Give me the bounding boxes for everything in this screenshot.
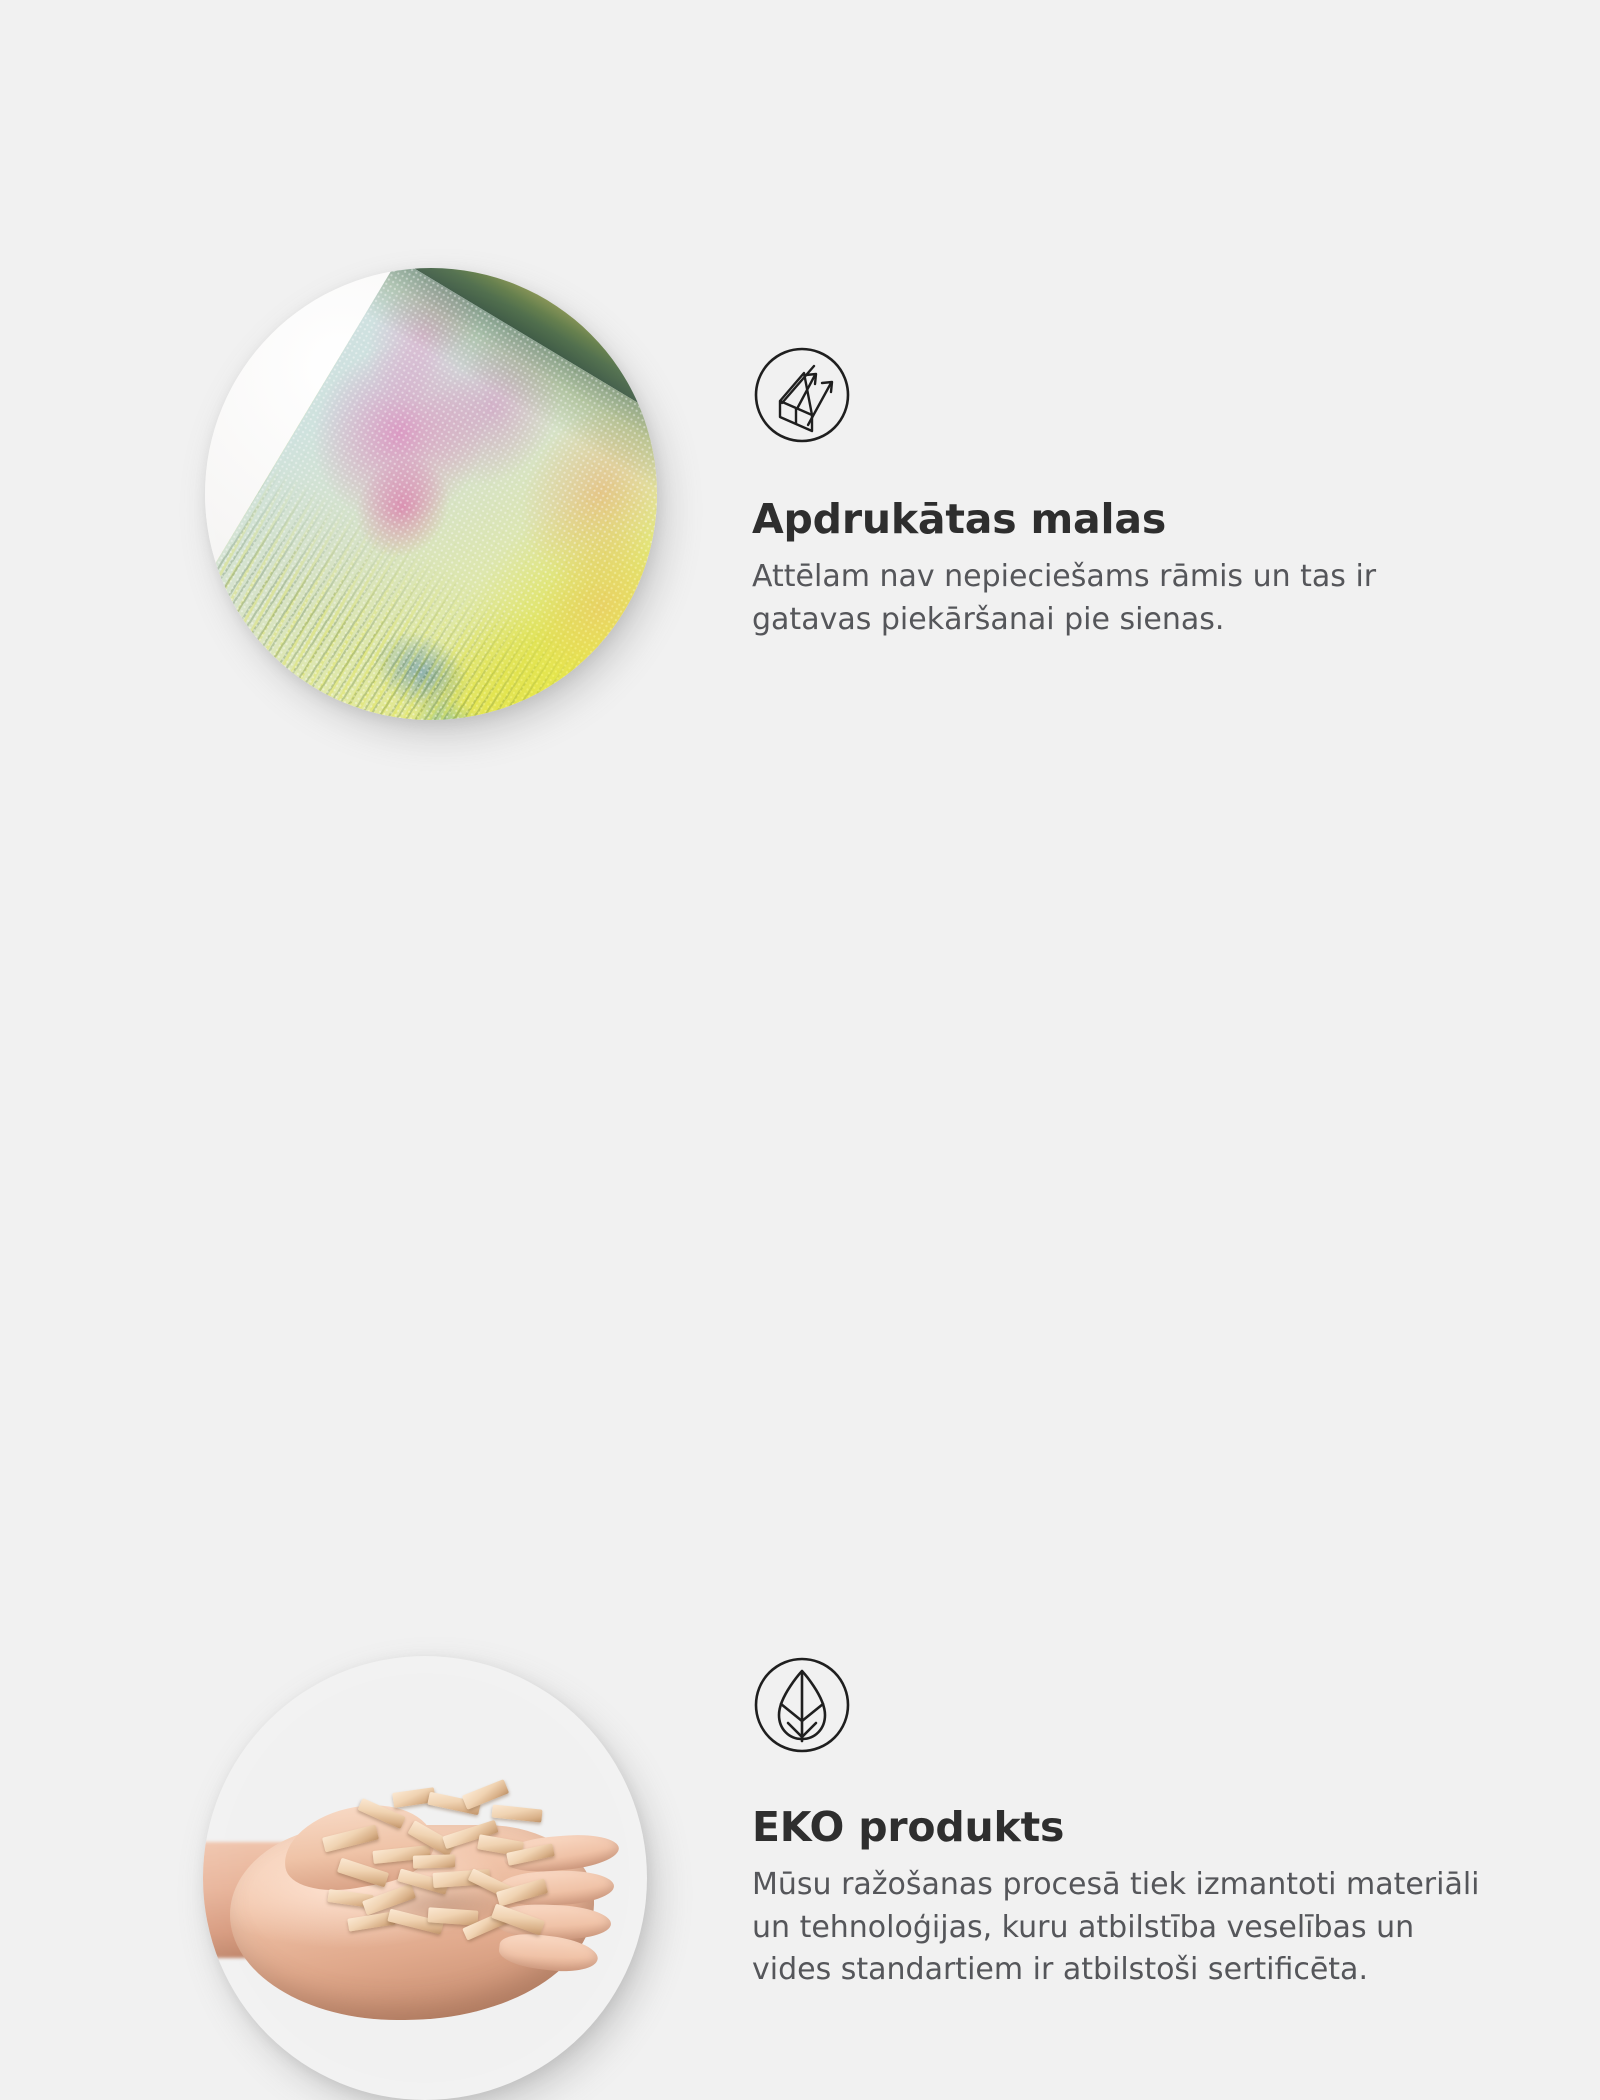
wood-chip-pile [318, 1780, 567, 1949]
wood-chip [413, 1854, 456, 1869]
feature-title: Apdrukātas malas [752, 445, 1492, 542]
feature-description: Mūsu ražošanas procesā tiek izmantoti ma… [752, 1850, 1492, 1992]
circular-photo-wood-chips [203, 1656, 647, 2100]
feature-description: Attēlam nav nepieciešams rāmis un tas ir… [752, 542, 1472, 641]
feature-image-eko-product [203, 1656, 647, 2100]
feature-block-printed-edges: Apdrukātas malas Attēlam nav nepieciešam… [0, 0, 1600, 800]
printed-edges-icon [752, 345, 852, 445]
leaf-icon [752, 1655, 852, 1755]
feature-text-printed-edges: Apdrukātas malas Attēlam nav nepieciešam… [752, 345, 1492, 641]
wood-chip [427, 1907, 478, 1926]
circular-photo-canvas-edge [205, 268, 657, 720]
feature-image-printed-edges [205, 268, 657, 720]
feature-text-eko-product: EKO produkts Mūsu ražošanas procesā tiek… [752, 1655, 1512, 1992]
feature-block-eko-product: EKO produkts Mūsu ražošanas procesā tiek… [0, 800, 1600, 1600]
wood-chip [322, 1825, 379, 1853]
wood-chip [492, 1805, 543, 1824]
feature-list-page: Apdrukātas malas Attēlam nav nepieciešam… [0, 0, 1600, 1600]
feature-title: EKO produkts [752, 1755, 1512, 1850]
